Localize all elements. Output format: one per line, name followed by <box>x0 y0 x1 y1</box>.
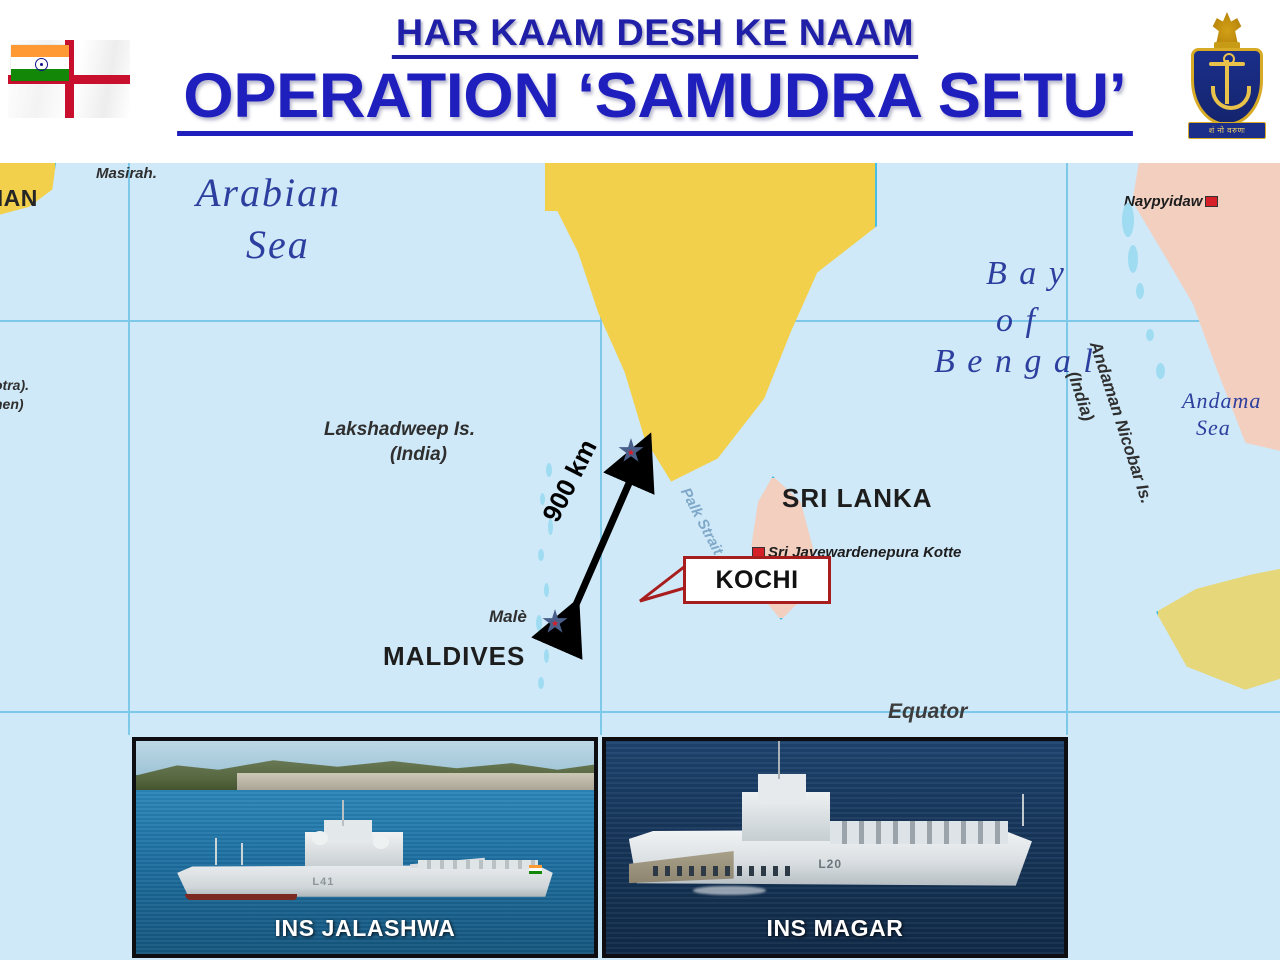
kochi-leader-line <box>640 567 688 601</box>
page-title: OPERATION ‘SAMUDRA SETU’ <box>177 63 1132 136</box>
tagline-text: HAR KAAM DESH KE NAAM <box>392 14 918 59</box>
ashoka-chakra-icon <box>35 58 48 71</box>
ship-mast <box>778 737 780 779</box>
jalashwa-caption: INS JALASHWA <box>136 915 594 942</box>
ship-foremast-pole <box>215 838 217 864</box>
indian-navy-ensign-icon <box>8 40 130 118</box>
ship-radome <box>312 831 328 845</box>
kochi-callout-box[interactable]: KOCHI <box>683 556 831 604</box>
ins-magar-photo[interactable]: L20 INS MAGAR <box>602 737 1068 958</box>
magar-pennant-number: L20 <box>818 857 842 871</box>
tricolour-saffron-band <box>11 45 69 57</box>
ins-jalashwa-photo[interactable]: L41 INS JALASHWA <box>132 737 598 958</box>
shoreline-buildings <box>237 773 594 790</box>
ship-jackstaff <box>1022 794 1024 826</box>
ship-mast <box>342 800 344 826</box>
ensign-canton-tricolour <box>11 45 69 81</box>
slide-header: HAR KAAM DESH KE NAAM OPERATION ‘SAMUDRA… <box>0 0 1280 163</box>
tricolour-green-band <box>11 69 69 81</box>
ship-bridge <box>758 774 806 804</box>
male-marker-dot <box>552 620 559 627</box>
ship-portholes <box>653 866 790 876</box>
ship-deck-equipment <box>418 860 538 869</box>
ship-bridge <box>324 820 373 840</box>
ship-photo-strip: L41 INS JALASHWA L20 <box>0 735 1280 960</box>
crest-motto-banner: शं नो वरुणः <box>1188 122 1266 139</box>
jalashwa-ship-silhouette: L41 <box>177 826 553 903</box>
ashoka-lion-capital-icon <box>1210 10 1244 44</box>
magar-caption: INS MAGAR <box>606 915 1064 942</box>
ship-wake <box>693 886 766 896</box>
slide-root: HAR KAAM DESH KE NAAM OPERATION ‘SAMUDRA… <box>0 0 1280 960</box>
ship-radome <box>373 835 389 849</box>
ship-deck-equipment <box>830 821 1007 843</box>
ship-hull <box>177 865 553 897</box>
indian-navy-crest-icon: शं नो वरुणः <box>1184 8 1270 150</box>
title-block: HAR KAAM DESH KE NAAM OPERATION ‘SAMUDRA… <box>150 14 1160 136</box>
ship-boot-topping <box>185 894 298 900</box>
jalashwa-pennant-number: L41 <box>312 876 334 888</box>
map-area: MAN Arabian Sea B a y o f B e n g a l An… <box>0 163 1280 735</box>
ship-foremast-pole <box>241 843 243 864</box>
kochi-marker-dot <box>628 449 635 456</box>
magar-ship-silhouette: L20 <box>629 779 1032 903</box>
ship-ensign-flag-icon <box>529 865 542 874</box>
